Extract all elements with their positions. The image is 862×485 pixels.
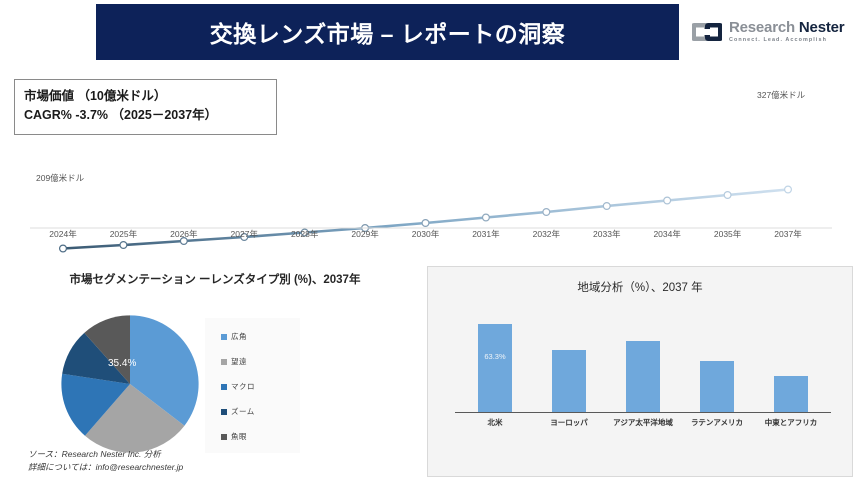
bar-x-tick-label: 中東とアフリカ bbox=[751, 417, 831, 428]
header-banner: 交換レンズ市場 – レポートの洞察 bbox=[96, 4, 679, 60]
line-x-tick-label: 2025年 bbox=[110, 228, 137, 240]
logo-name-research: Research bbox=[729, 19, 795, 36]
line-x-tick-label: 2032年 bbox=[533, 228, 560, 240]
legend-item: 広角 bbox=[221, 324, 300, 349]
line-data-point bbox=[483, 214, 490, 221]
line-x-tick-label: 2024年 bbox=[49, 228, 76, 240]
logo-name-nester: Nester bbox=[799, 19, 845, 36]
legend-item: 魚眼 bbox=[221, 424, 300, 449]
page-title: 交換レンズ市場 – レポートの洞察 bbox=[210, 15, 566, 49]
legend-swatch-icon bbox=[221, 384, 227, 390]
logo-name: Research Nester bbox=[729, 20, 844, 35]
bar-chart-x-axis-labels: 北米ヨーロッパアジア太平洋地域ラテンアメリカ中東とアフリカ bbox=[458, 417, 828, 435]
line-x-tick-label: 2030年 bbox=[412, 228, 439, 240]
bar-column bbox=[478, 324, 512, 412]
bar-chart-axis bbox=[455, 412, 831, 413]
legend-swatch-icon bbox=[221, 409, 227, 415]
market-value-line: 市場価値 （10億米ドル） bbox=[24, 87, 267, 106]
line-data-point bbox=[543, 209, 550, 216]
cagr-line: CAGR% -3.7% （2025－2037年） bbox=[24, 106, 267, 125]
line-x-tick-label: 2026年 bbox=[170, 228, 197, 240]
line-x-tick-label: 2031年 bbox=[472, 228, 499, 240]
regional-analysis-bar-chart: 63.3% bbox=[458, 312, 828, 412]
bar-column bbox=[700, 361, 734, 412]
bar-x-tick-label: ヨーロッパ bbox=[529, 417, 609, 428]
pie-slice-value-label: 35.4% bbox=[108, 358, 136, 369]
legend-item: 望遠 bbox=[221, 349, 300, 374]
line-data-point bbox=[603, 203, 610, 210]
segmentation-panel: 市場セグメンテーション ーレンズタイプ別 (%)、2037年 広角望遠マクロズー… bbox=[20, 272, 410, 477]
source-line-2: 詳細については：info@researchnester.jp bbox=[28, 461, 183, 474]
bar-value-label: 63.3% bbox=[478, 352, 512, 361]
line-x-tick-label: 2029年 bbox=[351, 228, 378, 240]
logo-mark-icon bbox=[692, 20, 722, 44]
bar-column bbox=[774, 376, 808, 412]
line-x-tick-label: 2035年 bbox=[714, 228, 741, 240]
logo-text: Research Nester Connect. Lead. Accomplis… bbox=[729, 20, 844, 43]
source-note: ソース：Research Nester Inc. 分析 詳細については：info… bbox=[28, 448, 183, 474]
market-value-box: 市場価値 （10億米ドル） CAGR% -3.7% （2025－2037年） bbox=[14, 79, 277, 135]
pie-chart-legend: 広角望遠マクロズーム魚眼 bbox=[205, 318, 300, 453]
line-data-point bbox=[785, 186, 792, 193]
bar-x-tick-label: 北米 bbox=[455, 417, 535, 428]
legend-item-label: 魚眼 bbox=[231, 431, 247, 442]
line-x-tick-label: 2027年 bbox=[231, 228, 258, 240]
line-start-value-label: 209億米ドル bbox=[36, 172, 84, 184]
source-line-1: ソース：Research Nester Inc. 分析 bbox=[28, 448, 183, 461]
bar-column bbox=[552, 350, 586, 413]
logo-tagline: Connect. Lead. Accomplish bbox=[729, 38, 844, 43]
line-data-point bbox=[664, 197, 671, 204]
line-data-point bbox=[724, 192, 731, 199]
bar-column bbox=[626, 341, 660, 412]
legend-item-label: マクロ bbox=[231, 381, 255, 392]
line-x-tick-label: 2037年 bbox=[774, 228, 801, 240]
bar-x-tick-label: ラテンアメリカ bbox=[677, 417, 757, 428]
regional-analysis-panel: 地域分析（%）、2037 年 63.3% 北米ヨーロッパアジア太平洋地域ラテンア… bbox=[427, 266, 853, 477]
legend-swatch-icon bbox=[221, 359, 227, 365]
line-data-point bbox=[422, 220, 429, 227]
legend-item: ズーム bbox=[221, 399, 300, 424]
bar-chart-title: 地域分析（%）、2037 年 bbox=[428, 279, 852, 295]
line-end-value-label: 327億米ドル bbox=[757, 89, 805, 101]
legend-swatch-icon bbox=[221, 334, 227, 340]
legend-item-label: 望遠 bbox=[231, 356, 247, 367]
legend-item-label: ズーム bbox=[231, 406, 255, 417]
pie-chart-title: 市場セグメンテーション ーレンズタイプ別 (%)、2037年 bbox=[30, 272, 400, 289]
brand-logo: Research Nester Connect. Lead. Accomplis… bbox=[692, 14, 852, 50]
legend-item-label: 広角 bbox=[231, 331, 247, 342]
line-chart-x-axis-labels: 2024年2025年2026年2027年2028年2029年2030年2031年… bbox=[0, 228, 862, 248]
segmentation-pie-chart bbox=[60, 314, 200, 454]
bar-x-tick-label: アジア太平洋地域 bbox=[603, 417, 683, 428]
line-x-tick-label: 2034年 bbox=[653, 228, 680, 240]
legend-item: マクロ bbox=[221, 374, 300, 399]
line-x-tick-label: 2028年 bbox=[291, 228, 318, 240]
line-x-tick-label: 2033年 bbox=[593, 228, 620, 240]
legend-swatch-icon bbox=[221, 434, 227, 440]
